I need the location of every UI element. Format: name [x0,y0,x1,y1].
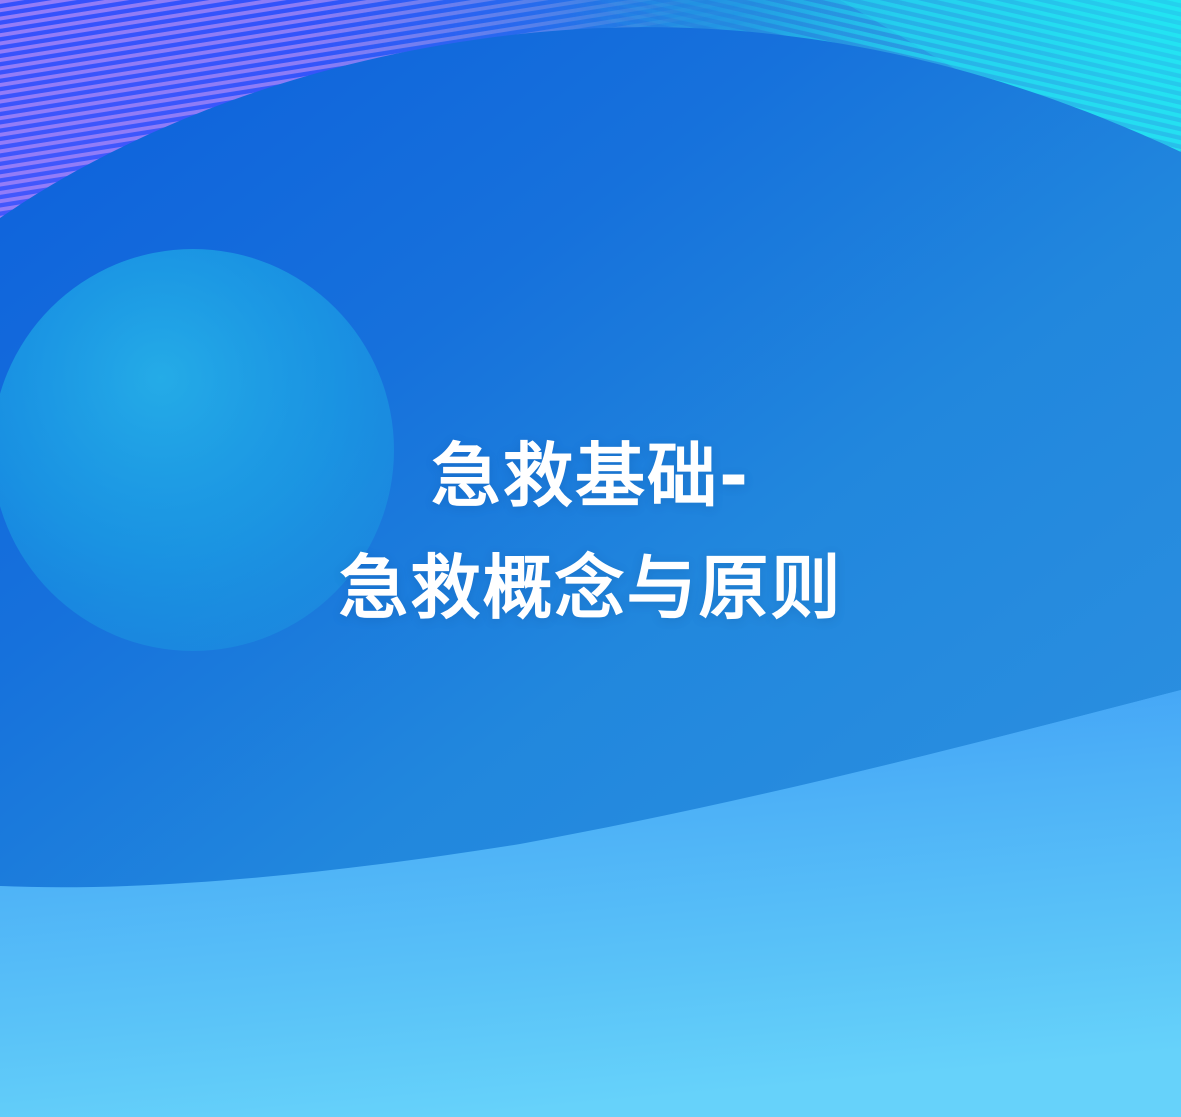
cover-slide: 急救基础- 急救概念与原则 [0,0,1181,1117]
slide-title: 急救基础- 急救概念与原则 [0,420,1181,644]
title-line-1: 急救基础- [0,420,1181,532]
title-line-2: 急救概念与原则 [0,532,1181,644]
